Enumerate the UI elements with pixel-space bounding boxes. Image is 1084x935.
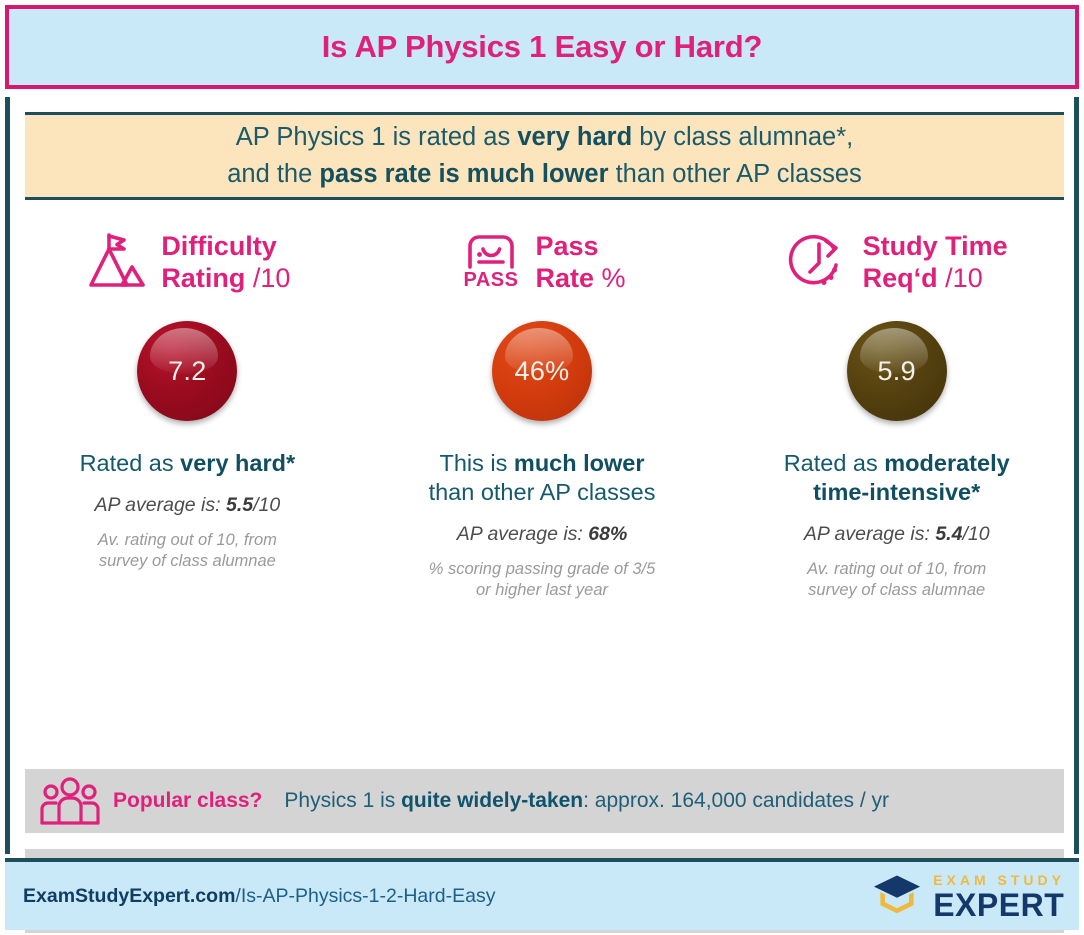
footer-url[interactable]: ExamStudyExpert.com/Is-AP-Physics-1-2-Ha… bbox=[23, 885, 495, 908]
footer-url-path: /Is-AP-Physics-1-2-Hard-Easy bbox=[235, 885, 495, 907]
column-title-line2-bold: Req‘d bbox=[863, 263, 938, 293]
info-row-label-popular: Popular class? bbox=[113, 789, 262, 813]
subtitle-2-post: than other AP classes bbox=[609, 160, 862, 188]
main-bold: much lower bbox=[514, 450, 645, 476]
stat-columns: Difficulty Rating /10 7.2 Rated as very … bbox=[10, 219, 1074, 649]
main-bold: very hard* bbox=[180, 450, 295, 476]
column-title-line1: Study Time bbox=[863, 230, 1008, 262]
column-header-pass-rate: PASS Pass Rate % bbox=[458, 219, 625, 305]
column-title-line2: Req‘d /10 bbox=[863, 262, 1008, 294]
popular-text-bold: quite widely-taken bbox=[401, 789, 583, 812]
avg-post: /10 bbox=[962, 523, 989, 545]
people-group-icon bbox=[39, 776, 101, 826]
subtitle-1-pre: AP Physics 1 is rated as bbox=[236, 123, 518, 151]
popular-text-post: : approx. 164,000 candidates / yr bbox=[583, 789, 889, 812]
column-title-line2-light: /10 bbox=[938, 263, 983, 293]
column-note-pass-rate: % scoring passing grade of 3/5 or higher… bbox=[429, 559, 656, 601]
footer-url-domain: ExamStudyExpert.com bbox=[23, 885, 235, 907]
column-title-line2: Rating /10 bbox=[161, 262, 290, 294]
avg-bold: 5.5 bbox=[226, 494, 253, 516]
column-title-line1: Pass bbox=[535, 230, 625, 262]
bubble-wrap-pass-rate: 46% bbox=[492, 319, 592, 423]
column-average-pass-rate: AP average is: 68% bbox=[457, 523, 628, 546]
mountain-flag-icon bbox=[84, 229, 150, 295]
column-title-difficulty: Difficulty Rating /10 bbox=[161, 230, 290, 294]
main-pre: This is bbox=[439, 450, 513, 476]
column-average-study-time: AP average is: 5.4/10 bbox=[804, 523, 990, 546]
column-title-line2-light: /10 bbox=[245, 263, 290, 293]
column-note-study-time: Av. rating out of 10, from survey of cla… bbox=[807, 559, 986, 601]
bubble-wrap-study-time: 5.9 bbox=[847, 319, 947, 423]
column-title-study-time: Study Time Req‘d /10 bbox=[863, 230, 1008, 294]
column-main-pass-rate: This is much lower than other AP classes bbox=[429, 449, 656, 507]
avg-bold: 68% bbox=[588, 523, 627, 545]
score-value-difficulty: 7.2 bbox=[168, 356, 206, 387]
score-bubble-difficulty: 7.2 bbox=[137, 321, 237, 421]
brand-logo[interactable]: EXAM STUDY EXPERT bbox=[868, 870, 1065, 923]
page-title: Is AP Physics 1 Easy or Hard? bbox=[322, 29, 762, 65]
column-title-line2-bold: Rate bbox=[535, 263, 594, 293]
stat-column-difficulty: Difficulty Rating /10 7.2 Rated as very … bbox=[10, 219, 365, 649]
logo-wordmark: EXAM STUDY EXPERT bbox=[933, 873, 1065, 921]
score-value-study-time: 5.9 bbox=[877, 356, 915, 387]
clock-arrow-icon bbox=[786, 229, 852, 295]
column-main-difficulty: Rated as very hard* bbox=[80, 449, 296, 478]
footer-bar: ExamStudyExpert.com/Is-AP-Physics-1-2-Ha… bbox=[5, 858, 1079, 930]
stat-column-pass-rate: PASS Pass Rate % 46% This is much lower … bbox=[365, 219, 720, 649]
avg-bold: 5.4 bbox=[935, 523, 962, 545]
subtitle-2-bold: pass rate is much lower bbox=[319, 160, 608, 188]
column-main-study-time: Rated as moderately time-intensive* bbox=[784, 449, 1010, 507]
subtitle-1-post: by class alumnae*, bbox=[632, 123, 853, 151]
stat-column-study-time: Study Time Req‘d /10 5.9 Rated as modera… bbox=[719, 219, 1074, 649]
score-bubble-study-time: 5.9 bbox=[847, 321, 947, 421]
avg-label: AP average is: bbox=[804, 523, 936, 545]
info-row-popular-class: Popular class? Physics 1 is quite widely… bbox=[25, 769, 1064, 833]
main-pre: Rated as bbox=[80, 450, 181, 476]
logo-bottom-text: EXPERT bbox=[933, 889, 1065, 921]
subtitle-line-1: AP Physics 1 is rated as very hard by cl… bbox=[236, 119, 854, 156]
avg-label: AP average is: bbox=[457, 523, 589, 545]
subtitle-2-pre: and the bbox=[227, 160, 319, 188]
column-average-difficulty: AP average is: 5.5/10 bbox=[94, 494, 280, 517]
subtitle-line-2: and the pass rate is much lower than oth… bbox=[227, 156, 862, 193]
logo-top-text: EXAM STUDY bbox=[933, 873, 1065, 887]
score-bubble-pass-rate: 46% bbox=[492, 321, 592, 421]
bubble-wrap-difficulty: 7.2 bbox=[137, 319, 237, 423]
column-note-difficulty: Av. rating out of 10, from survey of cla… bbox=[98, 530, 277, 572]
score-value-pass-rate: 46% bbox=[515, 356, 570, 387]
column-title-line2-bold: Rating bbox=[161, 263, 245, 293]
column-header-difficulty: Difficulty Rating /10 bbox=[84, 219, 290, 305]
info-row-text-popular: Physics 1 is quite widely-taken: approx.… bbox=[284, 786, 889, 816]
avg-post: /10 bbox=[253, 494, 280, 516]
subtitle-1-bold: very hard bbox=[517, 123, 632, 151]
column-title-line2-light: % bbox=[594, 263, 626, 293]
main-post: than other AP classes bbox=[429, 479, 656, 505]
body-panel: AP Physics 1 is rated as very hard by cl… bbox=[5, 97, 1079, 854]
graduation-cap-icon bbox=[868, 870, 926, 923]
popular-text-pre: Physics 1 is bbox=[284, 789, 401, 812]
column-header-study-time: Study Time Req‘d /10 bbox=[786, 219, 1008, 305]
main-pre: Rated as bbox=[784, 450, 885, 476]
svg-text:PASS: PASS bbox=[464, 269, 519, 291]
infographic-page: Is AP Physics 1 Easy or Hard? AP Physics… bbox=[0, 0, 1084, 935]
header-banner: Is AP Physics 1 Easy or Hard? bbox=[5, 5, 1079, 89]
column-title-line1: Difficulty bbox=[161, 230, 290, 262]
avg-label: AP average is: bbox=[94, 494, 226, 516]
pass-face-icon: PASS bbox=[458, 229, 524, 295]
column-title-line2: Rate % bbox=[535, 262, 625, 294]
subtitle-banner: AP Physics 1 is rated as very hard by cl… bbox=[25, 112, 1064, 200]
column-title-pass-rate: Pass Rate % bbox=[535, 230, 625, 294]
